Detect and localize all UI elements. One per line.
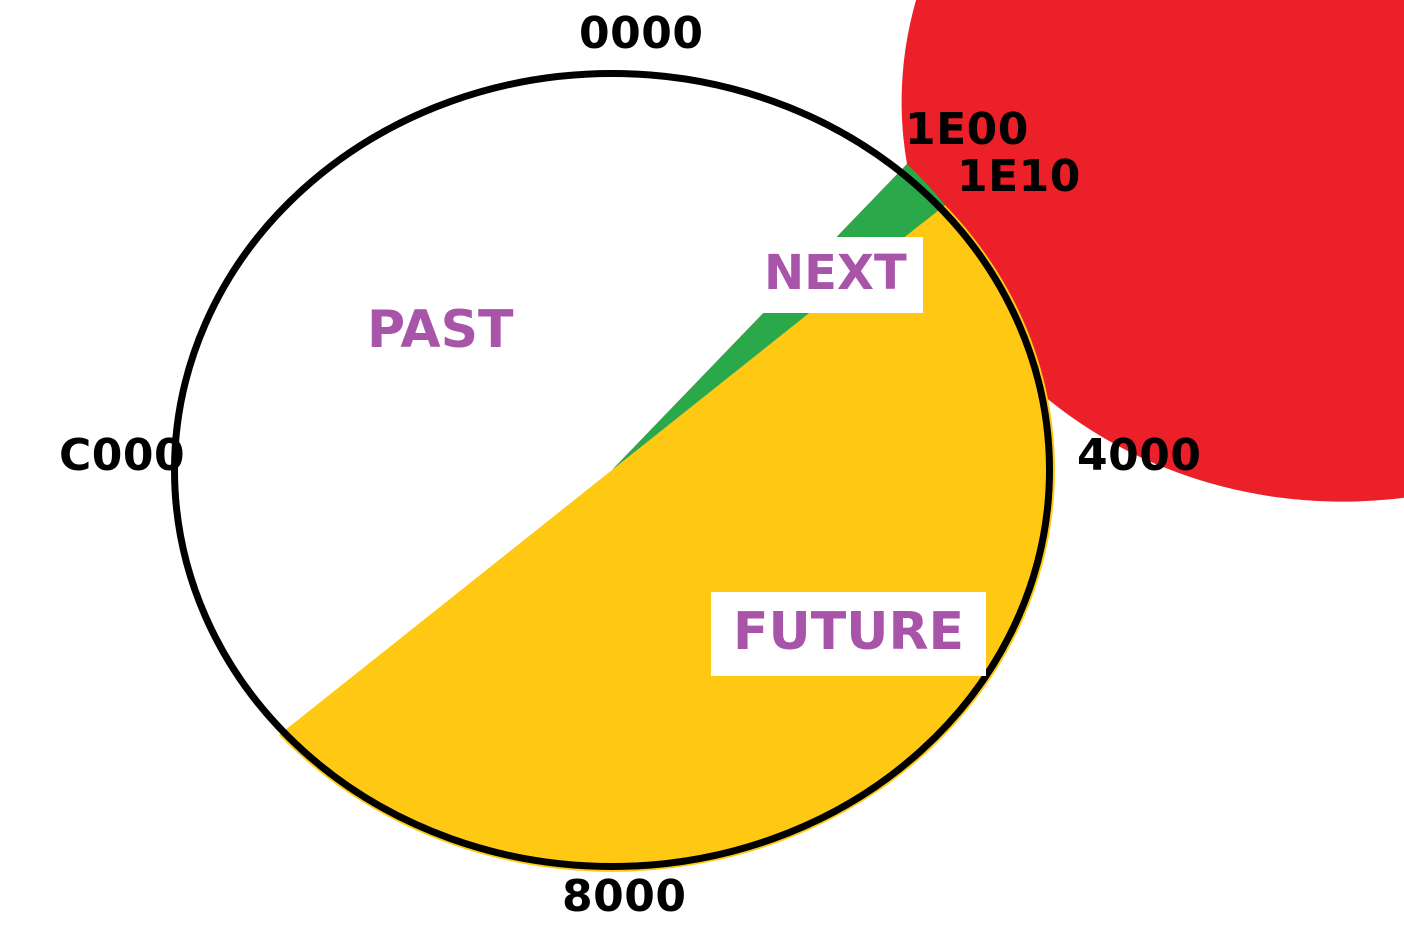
region-label-past: PAST <box>345 290 536 374</box>
address-label-C000: C000 <box>59 434 185 478</box>
address-space-wheel-figure: 0000 1E00 1E10 4000 8000 C000 PAST NEXT … <box>0 0 1404 949</box>
address-label-1E10: 1E10 <box>957 155 1081 199</box>
address-label-8000: 8000 <box>562 875 686 919</box>
address-label-4000: 4000 <box>1077 434 1201 478</box>
address-label-1E00: 1E00 <box>905 108 1029 152</box>
address-label-0000: 0000 <box>579 12 703 56</box>
region-label-next: NEXT <box>748 237 923 313</box>
region-label-future: FUTURE <box>711 592 986 676</box>
